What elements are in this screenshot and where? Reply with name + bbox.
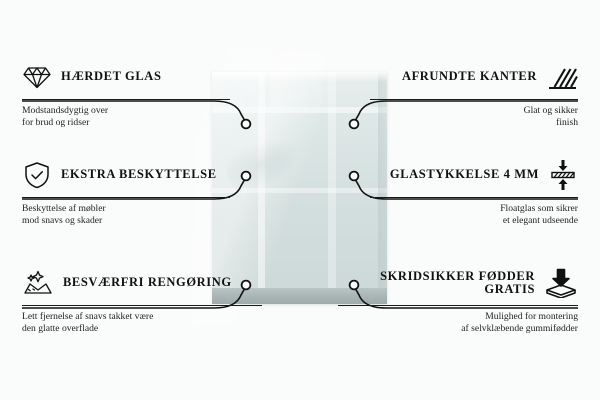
feature-title: AFRUNDTE KANTER	[402, 70, 537, 84]
feature-hardened-glass: HÆRDET GLAS Modstandsdygtig over for bru…	[22, 60, 230, 128]
divider	[370, 99, 578, 100]
feature-header: EKSTRA BESKYTTELSE	[22, 158, 230, 192]
divider	[22, 99, 230, 100]
thickness-icon	[548, 159, 578, 191]
connector-dot	[350, 120, 359, 129]
feature-header: AFRUNDTE KANTER	[370, 60, 578, 94]
feature-title: EKSTRA BESKYTTELSE	[61, 168, 217, 182]
feature-title: BESVÆRFRI RENGØRING	[63, 276, 232, 290]
feature-title: HÆRDET GLAS	[61, 70, 162, 84]
divider	[22, 197, 230, 198]
feature-description: Mulighed for montering af selvklæbende g…	[338, 311, 578, 334]
feature-description: Modstandsdygtig over for brud og ridser	[22, 105, 230, 128]
shield-check-icon	[22, 160, 52, 190]
diamond-icon	[22, 64, 52, 90]
feature-header: BESVÆRFRI RENGØRING	[22, 266, 262, 300]
feature-description: Beskyttelse af møbler mod snavs og skade…	[22, 203, 230, 226]
connector-dot	[242, 172, 251, 181]
feature-description: Lett fjernelse af snavs takket være den …	[22, 311, 262, 334]
sparkle-clean-icon	[22, 269, 54, 297]
connector-dot	[242, 120, 251, 129]
feature-title: SKRIDSIKKER FØDDER GRATIS	[338, 270, 535, 297]
feature-easy-cleaning: BESVÆRFRI RENGØRING Lett fjernelse af sn…	[22, 266, 262, 334]
infographic-canvas: HÆRDET GLAS Modstandsdygtig over for bru…	[0, 0, 600, 400]
feature-anti-slip-feet: SKRIDSIKKER FØDDER GRATIS Mulighed for m…	[338, 266, 578, 334]
divider	[370, 197, 578, 198]
divider	[22, 305, 262, 306]
beveled-edge-icon	[546, 63, 578, 91]
feature-glass-thickness: GLASTYKKELSE 4 MM Floatglas som sikrer e…	[370, 158, 578, 226]
anti-slip-feet-icon	[544, 268, 578, 298]
feature-header: HÆRDET GLAS	[22, 60, 230, 94]
divider	[338, 305, 578, 306]
feature-header: GLASTYKKELSE 4 MM	[370, 158, 578, 192]
feature-extra-protection: EKSTRA BESKYTTELSE Beskyttelse af møbler…	[22, 158, 230, 226]
feature-description: Glat og sikker finish	[370, 105, 578, 128]
connector-dot	[350, 172, 359, 181]
feature-title: GLASTYKKELSE 4 MM	[390, 168, 539, 182]
feature-rounded-edges: AFRUNDTE KANTER Glat og sikker finish	[370, 60, 578, 128]
feature-description: Floatglas som sikrer et elegant udseende	[370, 203, 578, 226]
feature-header: SKRIDSIKKER FØDDER GRATIS	[338, 266, 578, 300]
